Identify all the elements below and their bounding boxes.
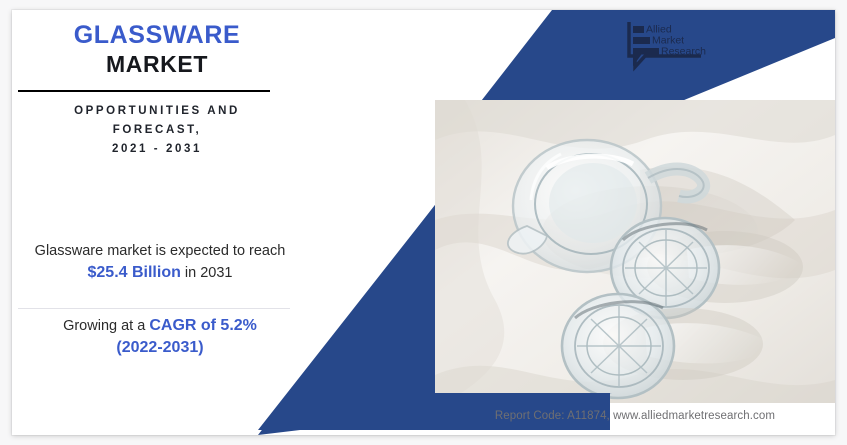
cagr-statement: Growing at a CAGR of 5.2%(2022-2031) — [20, 315, 300, 359]
logo-mark-icon: Allied Market Research — [626, 20, 706, 72]
page-title: GLASSWARE MARKET — [12, 20, 302, 79]
title-primary: GLASSWARE — [12, 20, 302, 50]
title-divider — [18, 90, 270, 92]
logo-text-market: Market — [652, 35, 684, 47]
footer-report-code: Report Code: A11874, www.alliedmarketres… — [435, 410, 835, 422]
title-secondary: MARKET — [12, 50, 302, 79]
stat-two-highlight-rate: CAGR of 5.2% — [149, 317, 257, 334]
stat-one-highlight: $25.4 Billion — [88, 264, 181, 281]
stat-two-prefix: Growing at a — [63, 318, 149, 334]
logo-text-allied: Allied — [646, 24, 672, 36]
stats-divider — [18, 308, 290, 309]
glassware-photo-illustration — [435, 100, 835, 403]
subtitle-line-3: 2021 - 2031 — [12, 140, 302, 159]
market-value-statement: Glassware market is expected to reach $2… — [20, 240, 300, 284]
stat-one-prefix: Glassware market is expected to reach — [35, 243, 286, 259]
logo-text-research: Research — [661, 46, 706, 58]
left-text-column: GLASSWARE MARKET OPPORTUNITIES AND FOREC… — [12, 10, 312, 435]
report-subtitle: OPPORTUNITIES AND FORECAST, 2021 - 2031 — [12, 102, 302, 159]
stat-one-suffix: in 2031 — [181, 265, 233, 281]
infographic-card: Allied Market Research — [0, 0, 847, 445]
subtitle-line-2: FORECAST, — [12, 121, 302, 140]
glassware-photo — [435, 100, 835, 403]
stat-two-highlight-period: (2022-2031) — [116, 339, 203, 356]
report-card: Allied Market Research — [12, 10, 835, 435]
allied-market-research-logo: Allied Market Research — [626, 20, 706, 72]
subtitle-line-1: OPPORTUNITIES AND — [12, 102, 302, 121]
